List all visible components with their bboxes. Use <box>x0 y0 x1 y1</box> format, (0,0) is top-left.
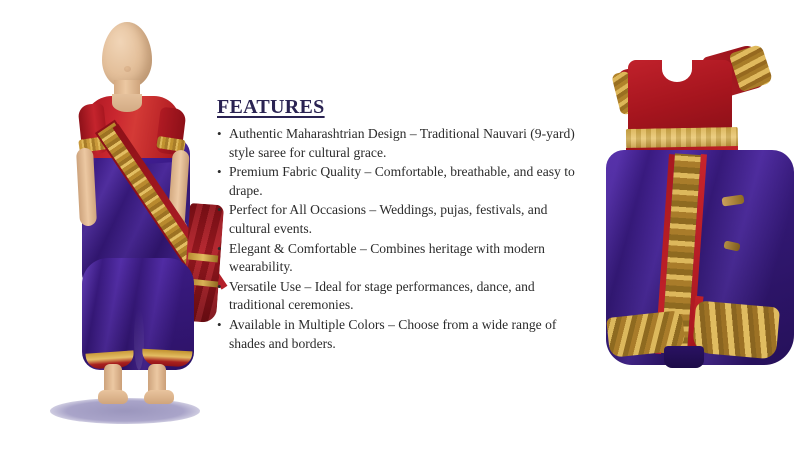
mannequin-foot-left <box>98 390 128 404</box>
feature-item: Perfect for All Occasions – Weddings, pu… <box>217 201 592 238</box>
features-section: FEATURES Authentic Maharashtrian Design … <box>217 96 592 354</box>
feature-item: Elegant & Comfortable – Combines heritag… <box>217 240 592 277</box>
product-photo-mannequin <box>38 8 218 428</box>
mannequin-nose <box>124 66 131 72</box>
mannequin-foot-right <box>144 390 174 404</box>
product-feature-slide: FEATURES Authentic Maharashtrian Design … <box>0 0 800 450</box>
features-heading: FEATURES <box>217 96 592 119</box>
flatlay-saree-gold-hem-right <box>692 300 780 359</box>
feature-item: Premium Fabric Quality – Comfortable, br… <box>217 163 592 200</box>
product-photo-flatlay <box>606 46 796 376</box>
flatlay-saree-dark-fold <box>664 346 704 368</box>
feature-item: Authentic Maharashtrian Design – Traditi… <box>217 125 592 162</box>
blouse-neckline <box>112 94 142 112</box>
feature-item: Versatile Use – Ideal for stage performa… <box>217 278 592 315</box>
dhoti-center-fold <box>134 308 144 370</box>
mannequin-head <box>102 22 152 88</box>
feature-item: Available in Multiple Colors – Choose fr… <box>217 316 592 353</box>
flatlay-blouse-neckline <box>662 56 692 82</box>
features-list: Authentic Maharashtrian Design – Traditi… <box>217 125 592 353</box>
